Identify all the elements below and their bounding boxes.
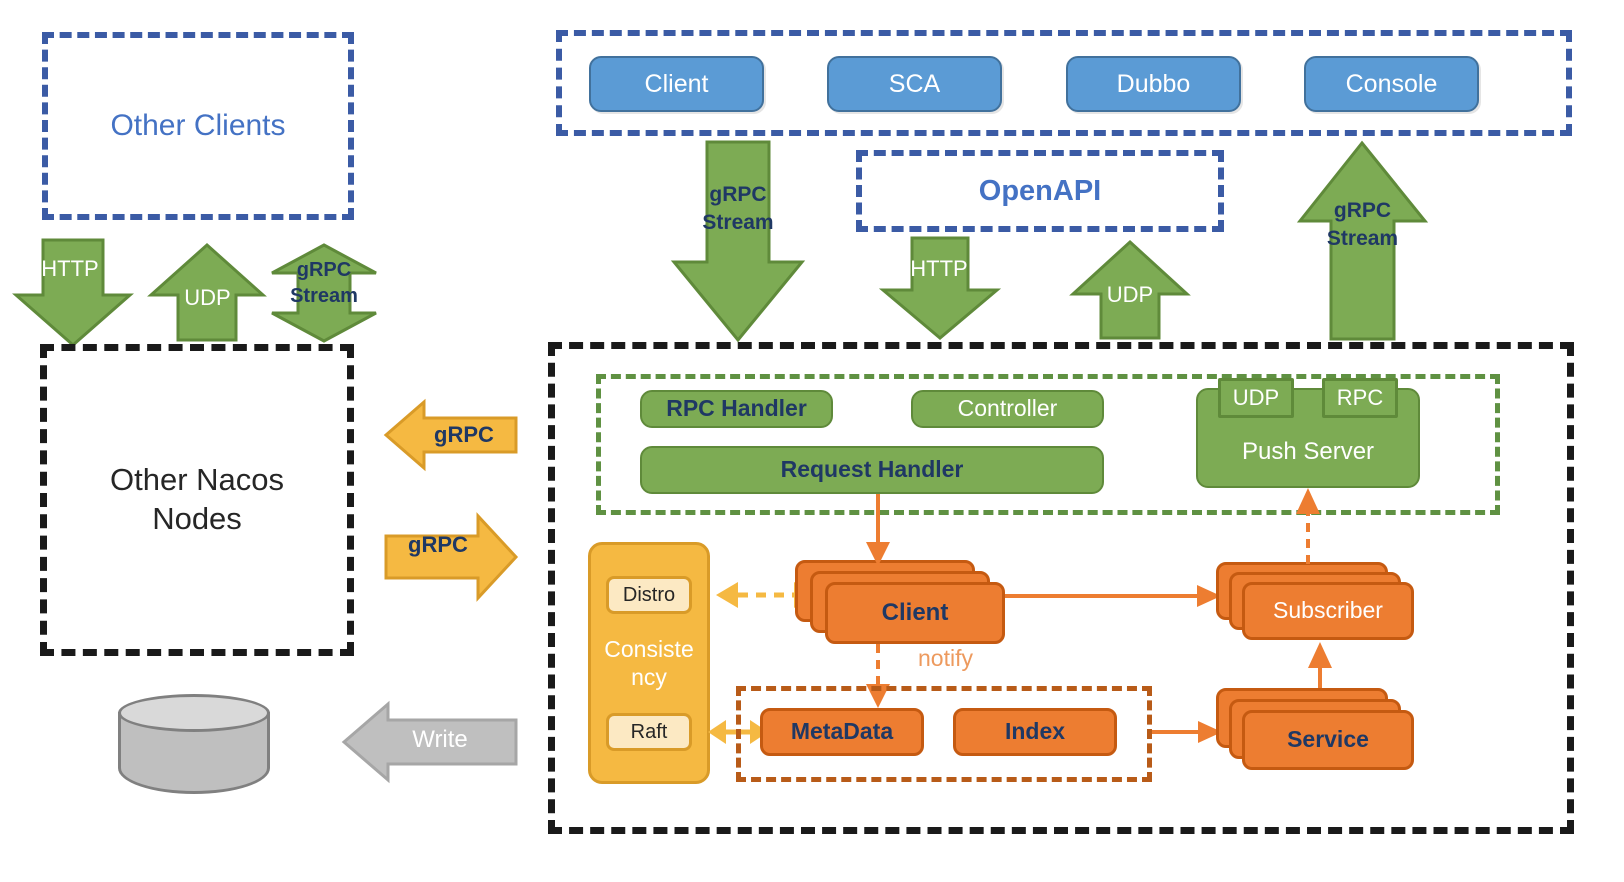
left-grpc-stream-label-line1: gRPC [272, 258, 376, 282]
other-nacos-nodes-label: Other Nacos Nodes [40, 344, 354, 656]
client-stack-front[interactable]: Client [825, 582, 1005, 644]
raft-box[interactable]: Raft [606, 713, 692, 751]
index-label: Index [1005, 719, 1065, 745]
grpc-stream-up-line2: Stream [1300, 226, 1425, 252]
rpc-handler-box[interactable]: RPC Handler [640, 390, 833, 428]
grpc-stream-down-arrow [674, 142, 802, 340]
subscriber-stack[interactable]: Subscriber [1216, 562, 1414, 642]
left-http-label: HTTP [20, 252, 120, 286]
console-app-label: Console [1346, 70, 1438, 98]
write-label: Write [380, 722, 500, 758]
openapi-label: OpenAPI [856, 150, 1224, 232]
request-handler-to-client-arrow [866, 494, 890, 566]
console-app-box[interactable]: Console [1304, 56, 1479, 112]
notify-label: notify [918, 645, 1028, 675]
rpc-handler-label: RPC Handler [666, 396, 807, 422]
service-stack[interactable]: Service [1216, 688, 1414, 770]
architecture-diagram: Other Clients HTTP UDP gRPC Stream Other… [0, 0, 1624, 882]
controller-label: Controller [958, 396, 1058, 422]
client-stack[interactable]: Client [795, 560, 1005, 645]
dubbo-app-box[interactable]: Dubbo [1066, 56, 1241, 112]
subscriber-to-push-server-arrow [1296, 486, 1320, 564]
udp-up-label: UDP [1076, 278, 1184, 312]
other-clients-label: Other Clients [42, 32, 354, 220]
distro-box[interactable]: Distro [606, 576, 692, 614]
http-down-label: HTTP [886, 252, 992, 286]
consistency-label-line2: ncy [631, 663, 667, 691]
raft-label: Raft [631, 721, 668, 743]
client-app-label: Client [645, 70, 709, 98]
metadata-box[interactable]: MetaData [760, 708, 924, 756]
push-server-rpc-label: RPC [1337, 386, 1383, 411]
left-grpc-stream-label-line2: Stream [272, 284, 376, 308]
index-box[interactable]: Index [953, 708, 1117, 756]
request-handler-label: Request Handler [781, 457, 964, 483]
sca-app-label: SCA [889, 70, 940, 98]
service-stack-front[interactable]: Service [1242, 710, 1414, 770]
client-stack-label: Client [882, 600, 949, 627]
push-server-label: Push Server [1196, 432, 1420, 472]
push-server-udp-label: UDP [1233, 386, 1279, 411]
registry-to-service-arrow [1152, 722, 1222, 742]
push-server-udp-box[interactable]: UDP [1218, 378, 1294, 418]
request-handler-box[interactable]: Request Handler [640, 446, 1104, 494]
other-nacos-nodes-line1: Other Nacos [110, 461, 284, 500]
controller-box[interactable]: Controller [911, 390, 1104, 428]
grpc-stream-down-line2: Stream [674, 210, 802, 236]
peer-grpc-right-label: gRPC [388, 528, 488, 562]
grpc-stream-up-line1: gRPC [1300, 198, 1425, 224]
sca-app-box[interactable]: SCA [827, 56, 1002, 112]
left-udp-label: UDP [155, 282, 260, 314]
service-stack-label: Service [1287, 727, 1369, 753]
peer-grpc-left-label: gRPC [414, 418, 514, 452]
subscriber-stack-front[interactable]: Subscriber [1242, 582, 1414, 640]
other-nacos-nodes-line2: Nodes [152, 500, 242, 539]
subscriber-stack-label: Subscriber [1273, 598, 1383, 624]
dubbo-app-label: Dubbo [1117, 70, 1191, 98]
database-cylinder-top [118, 694, 270, 732]
push-server-rpc-box[interactable]: RPC [1322, 378, 1398, 418]
client-app-box[interactable]: Client [589, 56, 764, 112]
consistency-label: Consiste ncy [588, 628, 710, 698]
distro-label: Distro [623, 584, 675, 606]
grpc-stream-down-line1: gRPC [674, 182, 802, 208]
client-to-subscriber-arrow [1005, 586, 1221, 606]
consistency-label-line1: Consiste [604, 635, 693, 663]
metadata-label: MetaData [791, 719, 893, 745]
